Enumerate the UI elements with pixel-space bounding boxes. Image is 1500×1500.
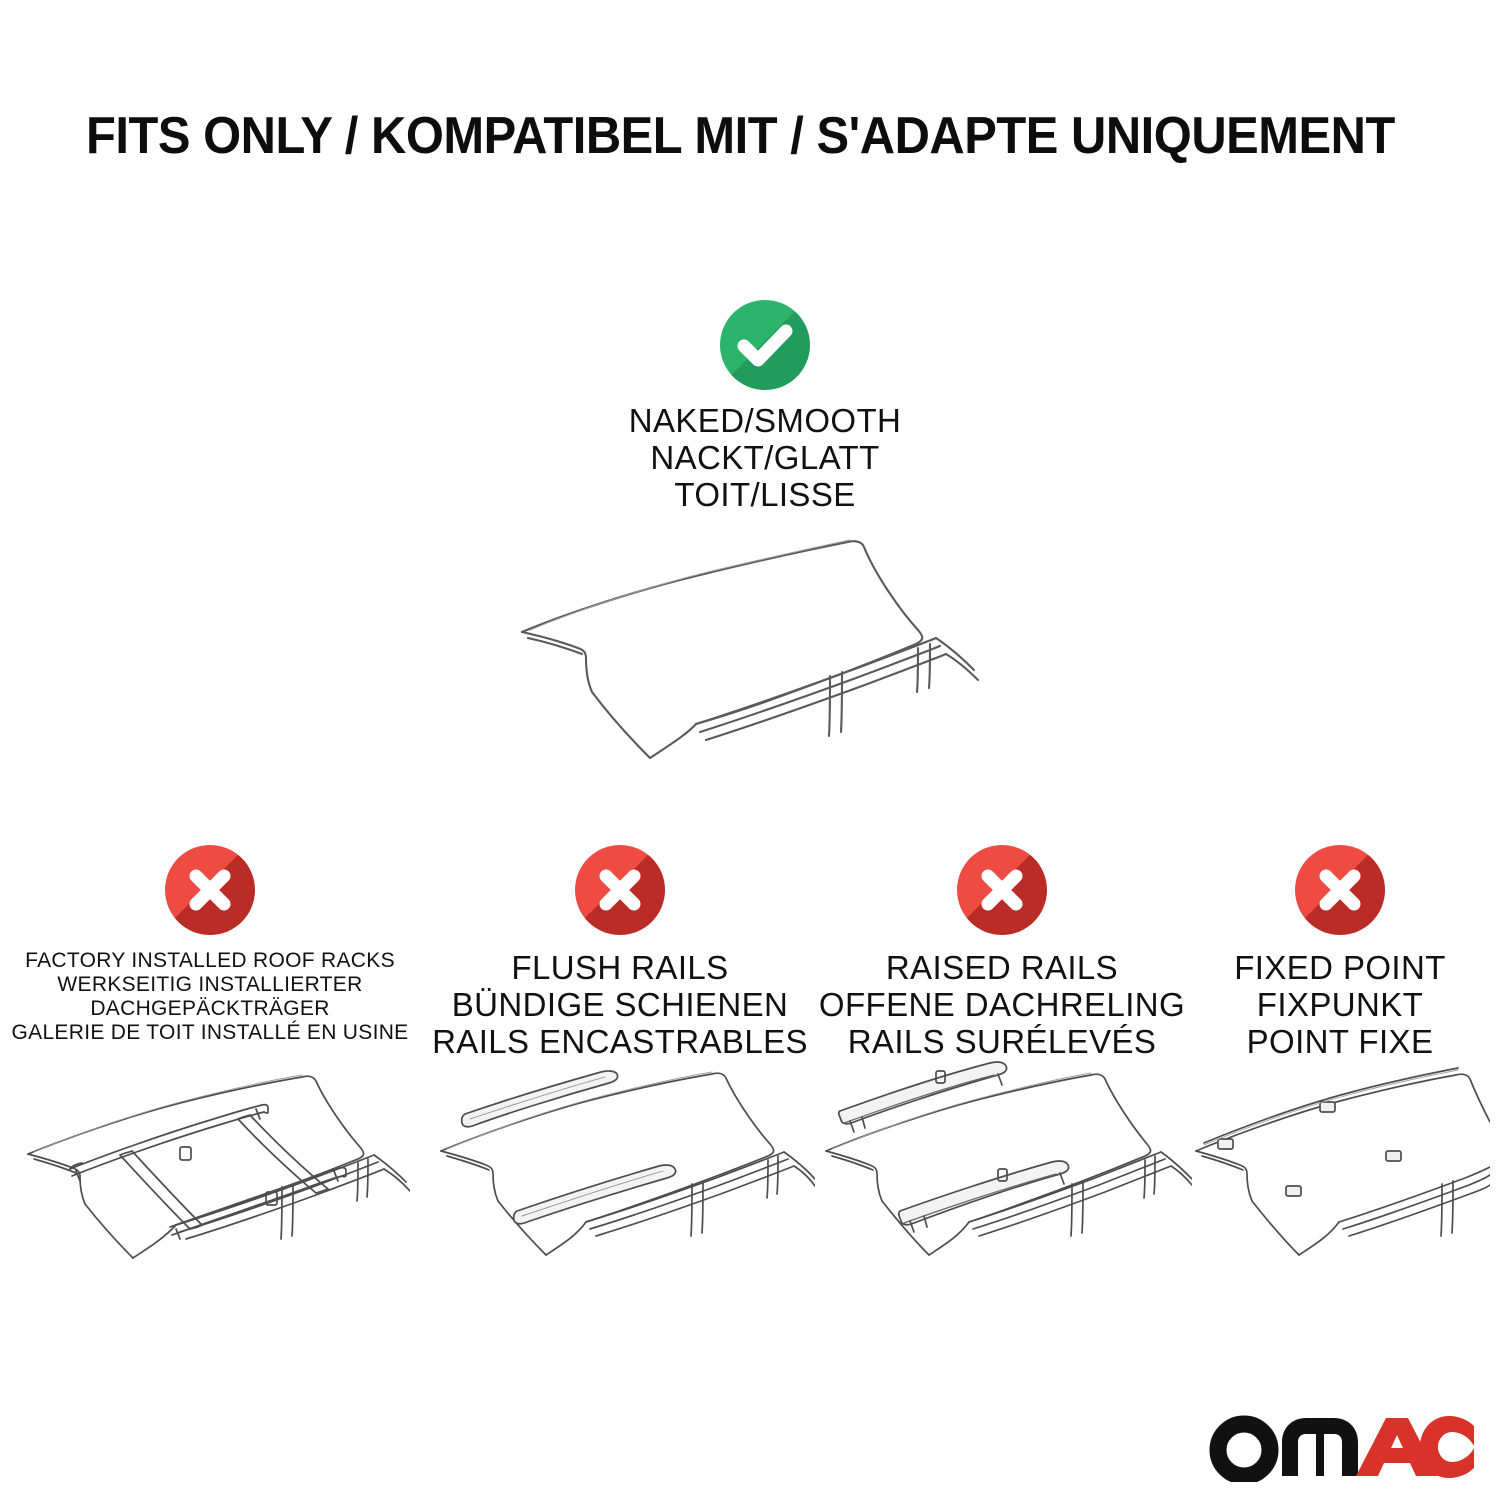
x-circle-icon	[957, 845, 1047, 935]
omac-logo	[1206, 1406, 1476, 1482]
fitment-compatibility-infographic: FITS ONLY / KOMPATIBEL MIT / S'ADAPTE UN…	[0, 0, 1500, 1500]
compatible-label: NAKED/SMOOTH NACKT/GLATT TOIT/LISSE	[565, 402, 965, 513]
incompatible-label: FIXED POINT FIXPUNKT POINT FIXE	[1190, 949, 1490, 1060]
label-line-2: DACHGEPÄCKTRÄGER	[10, 997, 410, 1021]
label-line-0: FIXED POINT	[1190, 949, 1490, 986]
label-line-2: RAILS ENCASTRABLES	[425, 1023, 815, 1060]
compatible-label-line-2: TOIT/LISSE	[565, 476, 965, 513]
label-line-1: OFFENE DACHRELING	[812, 986, 1192, 1023]
incompatible-label: FACTORY INSTALLED ROOF RACKS WERKSEITIG …	[10, 949, 410, 1045]
label-line-0: FACTORY INSTALLED ROOF RACKS	[10, 949, 410, 973]
car-roof-with-factory-rack-and-crossbars-illustration	[10, 1059, 410, 1284]
car-roof-flush-rails-illustration	[425, 1059, 815, 1284]
label-line-1: WERKSEITIG INSTALLIERTER	[10, 973, 410, 997]
label-line-0: RAISED RAILS	[812, 949, 1192, 986]
incompatible-item-fixed-point: FIXED POINT FIXPUNKT POINT FIXE	[1190, 845, 1490, 1284]
label-line-2: RAILS SURÉLEVÉS	[812, 1023, 1192, 1060]
car-roof-raised-rails-illustration	[812, 1059, 1192, 1284]
incompatible-item-raised-rails: RAISED RAILS OFFENE DACHRELING RAILS SUR…	[812, 845, 1192, 1284]
incompatible-item-flush-rails: FLUSH RAILS BÜNDIGE SCHIENEN RAILS ENCAS…	[425, 845, 815, 1284]
label-line-1: BÜNDIGE SCHIENEN	[425, 986, 815, 1023]
incompatible-label: FLUSH RAILS BÜNDIGE SCHIENEN RAILS ENCAS…	[425, 949, 815, 1060]
label-line-3: GALERIE DE TOIT INSTALLÉ EN USINE	[10, 1021, 410, 1045]
label-line-2: POINT FIXE	[1190, 1023, 1490, 1060]
car-roof-fixed-points-illustration	[1190, 1059, 1490, 1284]
label-line-1: FIXPUNKT	[1190, 986, 1490, 1023]
car-roof-bare-illustration	[500, 520, 1060, 810]
compatible-label-line-1: NACKT/GLATT	[565, 439, 965, 476]
compatible-label-line-0: NAKED/SMOOTH	[565, 402, 965, 439]
label-line-0: FLUSH RAILS	[425, 949, 815, 986]
x-circle-icon	[575, 845, 665, 935]
incompatible-label: RAISED RAILS OFFENE DACHRELING RAILS SUR…	[812, 949, 1192, 1060]
incompatible-group: FACTORY INSTALLED ROOF RACKS WERKSEITIG …	[0, 845, 1500, 1315]
incompatible-item-factory-installed-roof-racks: FACTORY INSTALLED ROOF RACKS WERKSEITIG …	[10, 845, 410, 1284]
x-circle-icon	[165, 845, 255, 935]
page-title: FITS ONLY / KOMPATIBEL MIT / S'ADAPTE UN…	[86, 106, 1346, 166]
compatible-group: NAKED/SMOOTH NACKT/GLATT TOIT/LISSE	[565, 300, 965, 513]
check-circle-icon	[720, 300, 810, 390]
x-circle-icon	[1295, 845, 1385, 935]
